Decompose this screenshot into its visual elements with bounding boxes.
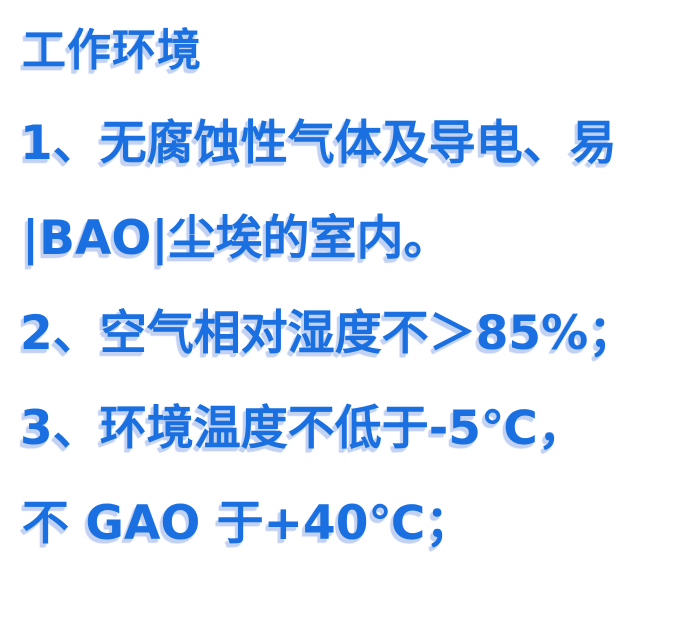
body-line-5: 不 GAO 于+40℃； <box>22 476 692 571</box>
document-page: 工作环境 1、无腐蚀性气体及导电、易 |BAO|尘埃的室内。 2、空气相对湿度不… <box>0 0 700 622</box>
body-line-1: 1、无腐蚀性气体及导电、易 <box>20 96 692 191</box>
document-content: 工作环境 1、无腐蚀性气体及导电、易 |BAO|尘埃的室内。 2、空气相对湿度不… <box>20 22 692 571</box>
page-title: 工作环境 <box>22 22 692 80</box>
body-line-3: 2、空气相对湿度不＞85%； <box>20 286 692 381</box>
body-line-2: |BAO|尘埃的室内。 <box>22 191 692 286</box>
body-line-4: 3、环境温度不低于-5℃， <box>20 381 692 476</box>
